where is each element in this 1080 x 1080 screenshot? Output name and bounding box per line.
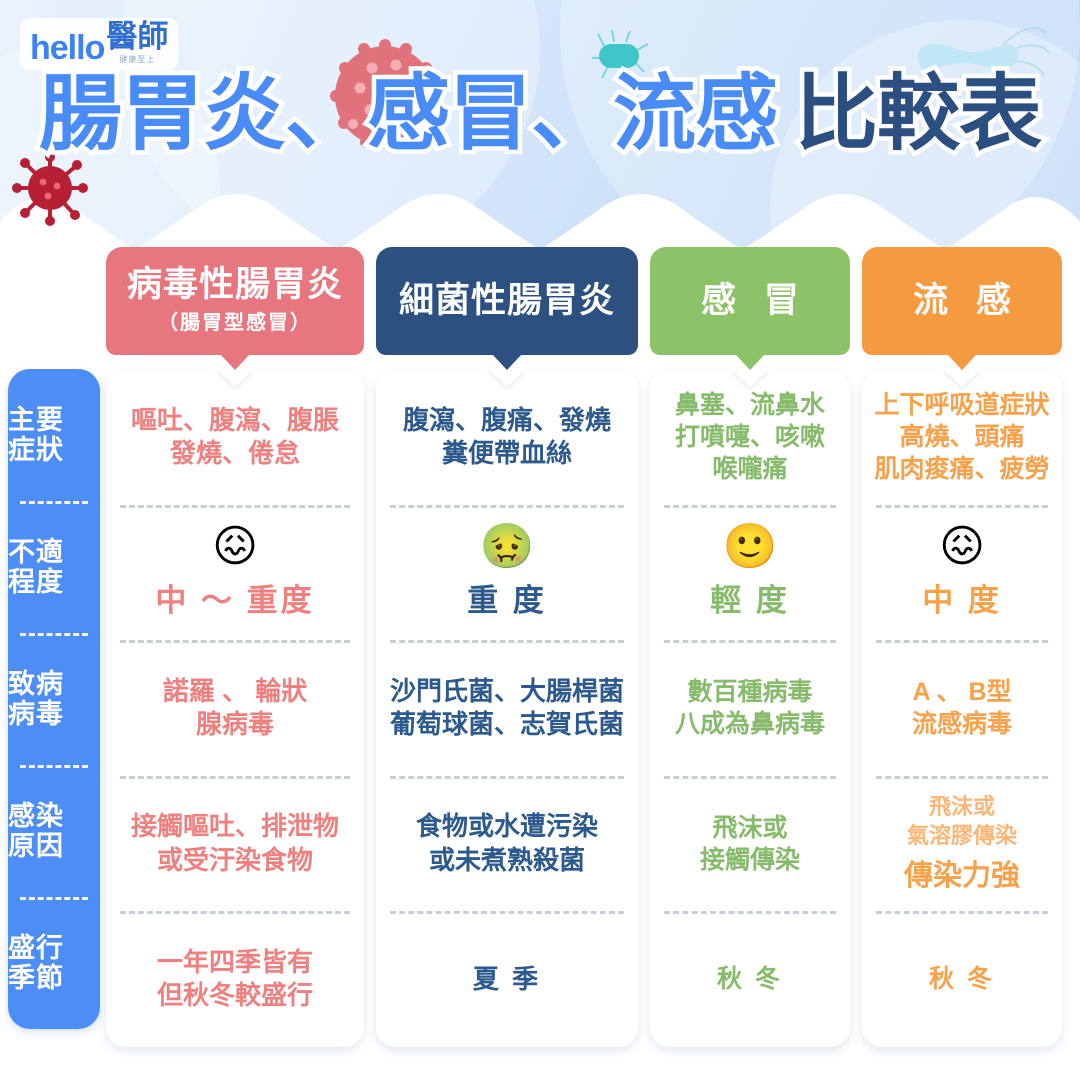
cell-season: 秋 冬 [656,911,844,1047]
severity-label: 輕 度 [710,575,790,620]
row-label-severity: 不適 程度 [8,501,100,633]
severity-label: 中 ～ 重度 [155,575,314,620]
cell-transmission: 飛沫或 氣溶膠傳染 傳染力強 [868,776,1056,912]
cell-severity: 😖 中 度 [868,505,1056,641]
column-header-influenza[interactable]: 流 感 [862,247,1062,355]
cell-pathogen: 諾羅 、 輪狀 腺病毒 [112,640,358,776]
column-body: 嘔吐、腹瀉、腹脹 發燒、倦怠 😖 中 ～ 重度 諾羅 、 輪狀 腺病毒 接觸嘔吐… [106,369,364,1047]
cell-text: 嘔吐、腹瀉、腹脹 發燒、倦怠 [131,404,339,471]
title-part-comparison: 比較表 [795,67,1041,160]
severity-label: 重 度 [467,575,547,620]
row-label-pathogen: 致病 病毒 [8,633,100,765]
column-body: 上下呼吸道症狀 高燒、頭痛 肌肉痠痛、疲勞 😖 中 度 A 、 B型 流感病毒 … [862,369,1062,1047]
logo-hello-text: hello [30,29,104,67]
column-header-common-cold[interactable]: 感 冒 [650,247,850,355]
cell-severity: 🤢 重 度 [382,505,632,641]
column-header-title: 細菌性腸胃炎 [399,283,615,320]
logo-tagline: 健康至上 [119,54,155,65]
cell-text: 一年四季皆有 但秋冬較盛行 [157,946,313,1013]
cell-severity: 🙂 輕 度 [656,505,844,641]
column-header-title: 病毒性腸胃炎 [127,267,343,304]
row-label-symptoms: 主要 症狀 [8,369,100,501]
column-influenza: 流 感 上下呼吸道症狀 高燒、頭痛 肌肉痠痛、疲勞 😖 中 度 A 、 B型 流… [862,247,1062,1047]
column-viral-gastroenteritis: 病毒性腸胃炎 （腸胃型感冒） 嘔吐、腹瀉、腹脹 發燒、倦怠 😖 中 ～ 重度 諾… [106,247,364,1047]
infographic-page: hello 醫師 健康至上 腸胃炎、感冒、流感比較表 主要 症狀 不適 程度 致… [0,0,1080,1080]
row-label-rail: 主要 症狀 不適 程度 致病 病毒 感染 原因 盛行 季節 [8,369,100,1029]
cell-text: A 、 B型 流感病毒 [912,676,1012,740]
column-header-bacterial-gastroenteritis[interactable]: 細菌性腸胃炎 [376,247,638,355]
cell-text: 諾羅 、 輪狀 腺病毒 [163,675,307,742]
column-common-cold: 感 冒 鼻塞、流鼻水 打噴嚏、咳嗽 喉嚨痛 🙂 輕 度 數百種病毒 八成為鼻病毒… [650,247,850,1047]
brand-logo[interactable]: hello 醫師 健康至上 [20,18,178,70]
cell-text: 食物或水遭污染 或未煮熟殺菌 [416,810,598,877]
logo-cjk-wrap: 醫師 健康至上 [106,21,168,65]
cell-symptoms: 上下呼吸道症狀 高燒、頭痛 肌肉痠痛、疲勞 [868,369,1056,505]
cell-transmission: 食物或水遭污染 或未煮熟殺菌 [382,776,632,912]
cell-text: 飛沫或 氣溶膠傳染 [907,793,1017,849]
cell-text: 腹瀉、腹痛、發燒 糞便帶血絲 [403,404,611,471]
nauseated-face-emoji: 🤢 [480,525,535,569]
row-label-transmission: 感染 原因 [8,765,100,897]
confounded-face-emoji: 😖 [212,525,258,569]
title-part-subjects: 腸胃炎、感冒、流感 [39,67,777,160]
cell-season: 一年四季皆有 但秋冬較盛行 [112,911,358,1047]
cell-text: 上下呼吸道症狀 高燒、頭痛 肌肉痠痛、疲勞 [874,389,1049,485]
column-header-viral-gastroenteritis[interactable]: 病毒性腸胃炎 （腸胃型感冒） [106,247,364,355]
column-body: 鼻塞、流鼻水 打噴嚏、咳嗽 喉嚨痛 🙂 輕 度 數百種病毒 八成為鼻病毒 飛沫或… [650,369,850,1047]
column-bacterial-gastroenteritis: 細菌性腸胃炎 腹瀉、腹痛、發燒 糞便帶血絲 🤢 重 度 沙門氏菌、大腸桿菌 葡萄… [376,247,638,1047]
cell-symptoms: 鼻塞、流鼻水 打噴嚏、咳嗽 喉嚨痛 [656,369,844,505]
row-label-season: 盛行 季節 [8,897,100,1029]
cell-symptoms: 腹瀉、腹痛、發燒 糞便帶血絲 [382,369,632,505]
comparison-table: 主要 症狀 不適 程度 致病 病毒 感染 原因 盛行 季節 病毒性腸胃炎 （腸胃… [0,247,1080,1067]
severity-label: 中 度 [922,575,1002,620]
cell-text: 秋 冬 [717,963,783,995]
cell-text: 鼻塞、流鼻水 打噴嚏、咳嗽 喉嚨痛 [675,389,825,485]
cell-text: 沙門氏菌、大腸桿菌 葡萄球菌、志賀氏菌 [390,675,624,742]
cell-season: 秋 冬 [868,911,1056,1047]
cell-season: 夏 季 [382,911,632,1047]
confounded-face-emoji: 😖 [939,525,985,569]
cell-pathogen: 沙門氏菌、大腸桿菌 葡萄球菌、志賀氏菌 [382,640,632,776]
cell-text-emphasis: 傳染力強 [904,852,1020,894]
coronavirus-red-icon [10,148,90,228]
cell-pathogen: 數百種病毒 八成為鼻病毒 [656,640,844,776]
cell-transmission: 飛沫或 接觸傳染 [656,776,844,912]
columns-container: 病毒性腸胃炎 （腸胃型感冒） 嘔吐、腹瀉、腹脹 發燒、倦怠 😖 中 ～ 重度 諾… [106,247,1072,1047]
column-header-title: 感 冒 [692,283,808,320]
page-title: 腸胃炎、感冒、流感比較表 [0,72,1080,155]
logo-cjk-text: 醫師 [106,21,168,52]
cell-text: 數百種病毒 八成為鼻病毒 [675,676,825,740]
column-body: 腹瀉、腹痛、發燒 糞便帶血絲 🤢 重 度 沙門氏菌、大腸桿菌 葡萄球菌、志賀氏菌… [376,369,638,1047]
cell-text: 飛沫或 接觸傳染 [700,812,800,876]
cell-text: 接觸嘔吐、排泄物 或受汙染食物 [131,810,339,877]
cell-text: 夏 季 [473,963,541,996]
cell-text: 秋 冬 [929,963,995,995]
logo-wordmark: hello [30,31,104,65]
column-header-title: 流 感 [904,283,1020,320]
cell-severity: 😖 中 ～ 重度 [112,505,358,641]
cell-symptoms: 嘔吐、腹瀉、腹脹 發燒、倦怠 [112,369,358,505]
cell-pathogen: A 、 B型 流感病毒 [868,640,1056,776]
cell-transmission: 接觸嘔吐、排泄物 或受汙染食物 [112,776,358,912]
column-header-subtitle: （腸胃型感冒） [158,306,312,335]
wave-divider [0,182,1080,250]
slightly-smiling-face-emoji: 🙂 [723,525,778,569]
